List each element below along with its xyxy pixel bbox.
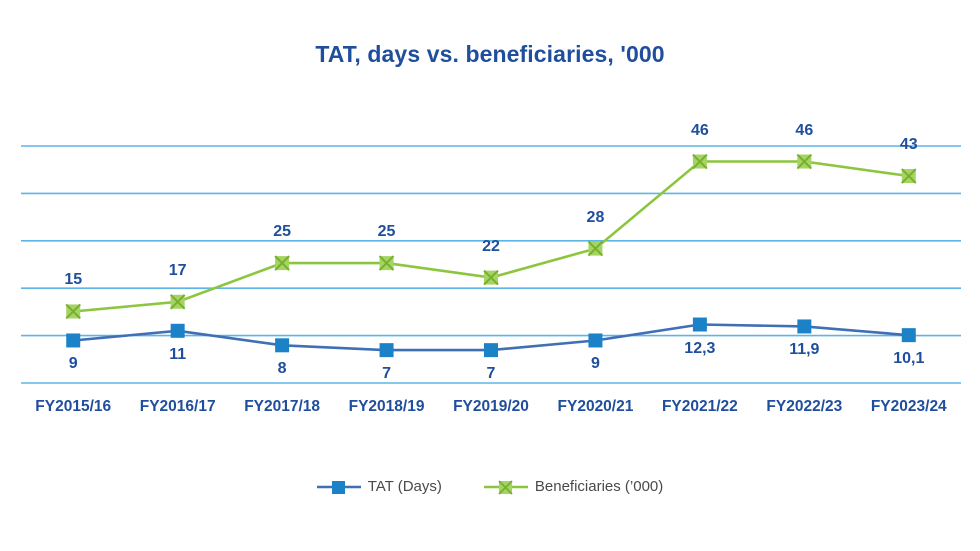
data-label: 7 bbox=[382, 365, 391, 383]
data-label: 46 bbox=[691, 122, 709, 140]
data-point-marker[interactable] bbox=[797, 155, 811, 169]
data-label: 10,1 bbox=[893, 350, 924, 368]
x-axis-label: FY2020/21 bbox=[558, 398, 634, 416]
x-axis-label: FY2022/23 bbox=[766, 398, 842, 416]
data-label: 43 bbox=[900, 136, 918, 154]
data-point-marker[interactable] bbox=[484, 271, 498, 285]
x-axis-label: FY2015/16 bbox=[35, 398, 111, 416]
legend-label-beneficiaries: Beneficiaries (’000) bbox=[535, 478, 663, 495]
data-point-marker[interactable] bbox=[693, 318, 707, 332]
x-axis-label: FY2016/17 bbox=[140, 398, 216, 416]
data-series-group bbox=[66, 155, 916, 358]
data-point-marker[interactable] bbox=[380, 256, 394, 270]
data-label: 25 bbox=[273, 223, 291, 241]
data-point-marker[interactable] bbox=[588, 242, 602, 256]
chart-legend: TAT (Days) Beneficiaries (’000) bbox=[0, 478, 980, 495]
legend-label-tat: TAT (Days) bbox=[368, 478, 442, 495]
x-axis-label: FY2023/24 bbox=[871, 398, 947, 416]
data-point-marker[interactable] bbox=[797, 319, 811, 333]
data-label: 9 bbox=[69, 355, 78, 373]
x-axis-label: FY2018/19 bbox=[349, 398, 425, 416]
data-point-marker[interactable] bbox=[171, 324, 185, 338]
legend-item-beneficiaries[interactable]: Beneficiaries (’000) bbox=[484, 478, 663, 495]
data-point-marker[interactable] bbox=[66, 333, 80, 347]
x-axis-label: FY2021/22 bbox=[662, 398, 738, 416]
data-label: 11,9 bbox=[789, 341, 819, 359]
data-label: 7 bbox=[487, 365, 496, 383]
x-axis-label: FY2019/20 bbox=[453, 398, 529, 416]
data-label: 17 bbox=[169, 262, 187, 280]
data-point-marker[interactable] bbox=[693, 155, 707, 169]
blue-square-marker-icon bbox=[317, 479, 361, 495]
data-point-marker[interactable] bbox=[902, 169, 916, 183]
chart-plot-area bbox=[0, 0, 980, 551]
data-point-marker[interactable] bbox=[902, 328, 916, 342]
data-label: 46 bbox=[795, 122, 813, 140]
data-label: 8 bbox=[278, 360, 287, 378]
data-point-marker[interactable] bbox=[171, 295, 185, 309]
chart-container: TAT, days vs. beneficiaries, '000 FY2015… bbox=[0, 0, 980, 551]
data-label: 9 bbox=[591, 355, 600, 373]
x-axis-label: FY2017/18 bbox=[244, 398, 320, 416]
data-label: 11 bbox=[169, 346, 186, 364]
green-x-marker-icon bbox=[484, 479, 528, 495]
data-point-marker[interactable] bbox=[380, 343, 394, 357]
data-point-marker[interactable] bbox=[66, 304, 80, 318]
data-point-marker[interactable] bbox=[275, 256, 289, 270]
data-point-marker[interactable] bbox=[588, 333, 602, 347]
data-label: 22 bbox=[482, 238, 500, 256]
data-point-marker[interactable] bbox=[484, 343, 498, 357]
data-label: 28 bbox=[587, 209, 605, 227]
data-label: 15 bbox=[64, 271, 82, 289]
data-label: 25 bbox=[378, 223, 396, 241]
data-point-marker[interactable] bbox=[275, 338, 289, 352]
legend-item-tat[interactable]: TAT (Days) bbox=[317, 478, 442, 495]
data-label: 12,3 bbox=[684, 340, 715, 358]
